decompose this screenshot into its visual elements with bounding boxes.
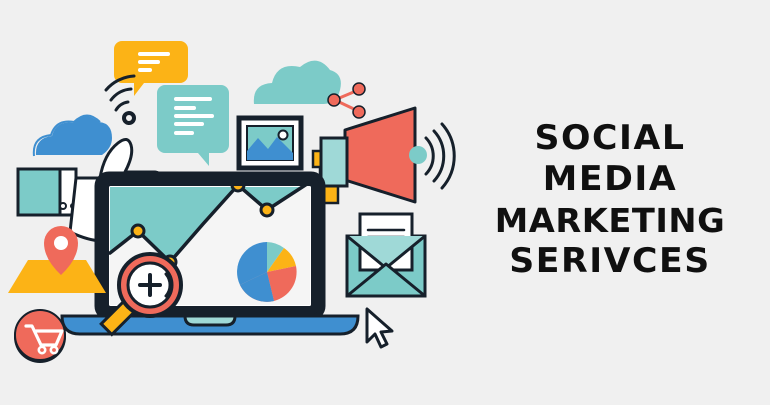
- headline-line-1: SOCIAL: [452, 118, 768, 159]
- laptop-device: [62, 176, 358, 334]
- envelope-icon: [347, 214, 425, 296]
- illustration-artwork: [0, 0, 460, 400]
- speech-bubble-teal-icon: [157, 85, 229, 166]
- illustration-svg: [0, 0, 460, 400]
- mouse-cursor-icon: [367, 309, 392, 347]
- headline-line-3: MARKETING: [452, 200, 768, 241]
- megaphone-icon: [313, 108, 454, 203]
- headline-line-4: SERIVCES: [452, 241, 768, 282]
- shopping-cart-icon: [14, 310, 66, 363]
- wifi-signal-icon: [106, 76, 134, 123]
- banner-root: SOCIAL MEDIA MARKETING SERIVCES: [0, 0, 770, 400]
- cloud-blue-icon: [34, 116, 112, 157]
- headline-line-2: MEDIA: [452, 159, 768, 200]
- page-title: SOCIAL MEDIA MARKETING SERIVCES: [455, 118, 765, 282]
- photo-frame-icon: [239, 118, 301, 168]
